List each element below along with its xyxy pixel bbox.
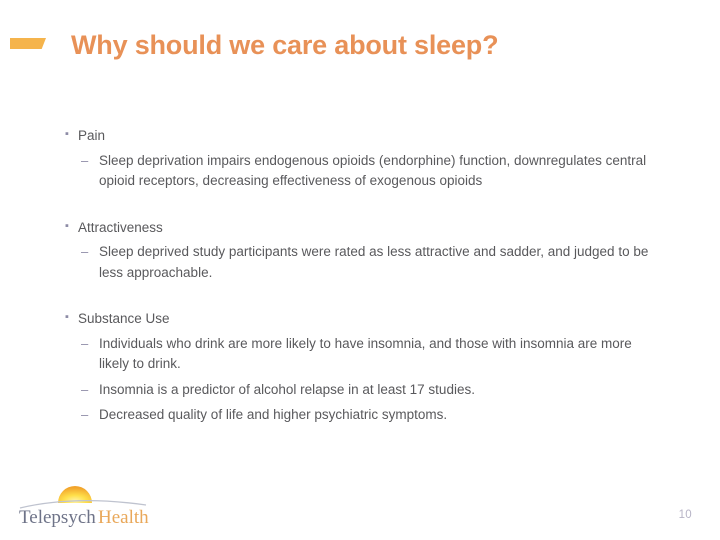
bullet-level2-label: Insomnia is a predictor of alcohol relap… <box>99 382 475 397</box>
bullet-level2: – Insomnia is a predictor of alcohol rel… <box>62 380 662 401</box>
sub-bullet-list: – Sleep deprived study participants were… <box>62 242 662 283</box>
bullet-level1-label: Pain <box>78 128 105 143</box>
square-bullet-icon: ▪ <box>65 126 69 143</box>
dash-bullet-icon: – <box>81 405 88 425</box>
logo-text-secondary: Health <box>98 507 149 528</box>
dash-bullet-icon: – <box>81 380 88 400</box>
bullet-level2: – Sleep deprivation impairs endogenous o… <box>62 151 662 192</box>
bullet-level1: ▪ Substance Use <box>62 309 662 329</box>
dash-bullet-icon: – <box>81 334 88 354</box>
dash-bullet-icon: – <box>81 242 88 262</box>
sub-bullet-list: – Sleep deprivation impairs endogenous o… <box>62 151 662 192</box>
bullet-level2-label: Decreased quality of life and higher psy… <box>99 407 447 422</box>
bullet-level1: ▪ Pain <box>62 126 662 146</box>
bullet-level1: ▪ Attractiveness <box>62 218 662 238</box>
logo-text-primary: Telepsych <box>19 507 96 528</box>
bullet-level1-label: Attractiveness <box>78 220 163 235</box>
bullet-level2: – Individuals who drink are more likely … <box>62 334 662 375</box>
bullet-group-attractiveness: ▪ Attractiveness – Sleep deprived study … <box>62 218 662 284</box>
telepsych-health-logo: Telepsych Health <box>18 478 168 528</box>
bullet-level2-label: Sleep deprivation impairs endogenous opi… <box>99 153 646 189</box>
dash-bullet-icon: – <box>81 151 88 171</box>
bullet-group-pain: ▪ Pain – Sleep deprivation impairs endog… <box>62 126 662 192</box>
bullet-group-substance-use: ▪ Substance Use – Individuals who drink … <box>62 309 662 426</box>
slide-body: ▪ Pain – Sleep deprivation impairs endog… <box>62 126 662 426</box>
square-bullet-icon: ▪ <box>65 309 69 326</box>
sub-bullet-list: – Individuals who drink are more likely … <box>62 334 662 426</box>
page-number: 10 <box>679 509 692 521</box>
page-title: Why should we care about sleep? <box>71 29 671 61</box>
square-bullet-icon: ▪ <box>65 218 69 235</box>
bullet-level2-label: Sleep deprived study participants were r… <box>99 244 648 280</box>
slide-canvas: Why should we care about sleep? ▪ Pain –… <box>0 0 720 540</box>
bullet-level1-label: Substance Use <box>78 311 170 326</box>
bullet-level2: – Decreased quality of life and higher p… <box>62 405 662 426</box>
bullet-level2: – Sleep deprived study participants were… <box>62 242 662 283</box>
title-accent-bar <box>10 38 46 49</box>
bullet-level2-label: Individuals who drink are more likely to… <box>99 336 632 372</box>
